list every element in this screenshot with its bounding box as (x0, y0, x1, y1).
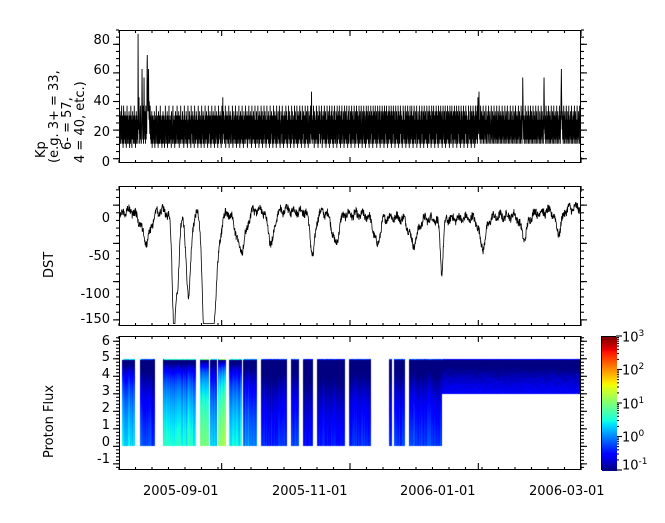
proton-flux-axis-label: Proton Flux (38, 336, 62, 470)
pf-ytick-5: 5 (72, 350, 110, 365)
kp-ytick-80: 80 (72, 33, 110, 48)
colorbar (601, 336, 616, 470)
dst-axis-label: DST (38, 186, 62, 326)
xtick-label-3: 2006-03-01 (529, 484, 605, 499)
pf-ytick-0: 0 (72, 435, 110, 450)
xtick-label-1: 2005-11-01 (272, 484, 348, 499)
pf-ytick-3: 3 (72, 384, 110, 399)
panel-dst (119, 186, 581, 326)
pf-ytick-6: 6 (72, 334, 110, 349)
dst-ytick-minus50: -50 (62, 249, 110, 264)
proton-flux-axis-label-text: Proton Flux (42, 385, 57, 458)
pf-ytick-minus1: -1 (72, 452, 110, 467)
kp-ytick-60: 60 (72, 63, 110, 78)
dst-axis-label-text: DST (42, 252, 57, 278)
cbar-tick-1em1: 10-1 (622, 457, 648, 473)
panel-proton-flux (119, 336, 581, 470)
kp-axis-label: Kp (e.g. 3+ = 33, 6- = 57, 4 = 40, etc.) (22, 30, 72, 163)
panel-kp (119, 30, 581, 163)
cbar-tick-1e1: 101 (622, 396, 644, 412)
proton-flux-spectrogram (120, 337, 580, 469)
pf-ytick-1: 1 (72, 418, 110, 433)
cbar-tick-1e3: 103 (622, 329, 644, 345)
cbar-tick-1e2: 102 (622, 362, 644, 378)
figure-canvas: 80 60 40 20 0 Kp (e.g. 3+ = 33, 6- = 57,… (0, 0, 665, 523)
dst-ytick-minus100: -100 (62, 287, 110, 302)
pf-ytick-4: 4 (72, 367, 110, 382)
colorbar-gradient (602, 337, 617, 471)
dst-series (120, 187, 580, 325)
kp-axis-label-line-3: 4 = 40, etc.) (73, 81, 88, 163)
xtick-label-0: 2005-09-01 (143, 484, 219, 499)
dst-ytick-minus150: -150 (62, 312, 110, 327)
cbar-tick-1e0: 100 (622, 429, 644, 445)
xtick-label-2: 2006-01-01 (400, 484, 476, 499)
pf-ytick-2: 2 (72, 401, 110, 416)
kp-series (120, 31, 580, 162)
dst-ytick-0: 0 (62, 211, 110, 226)
